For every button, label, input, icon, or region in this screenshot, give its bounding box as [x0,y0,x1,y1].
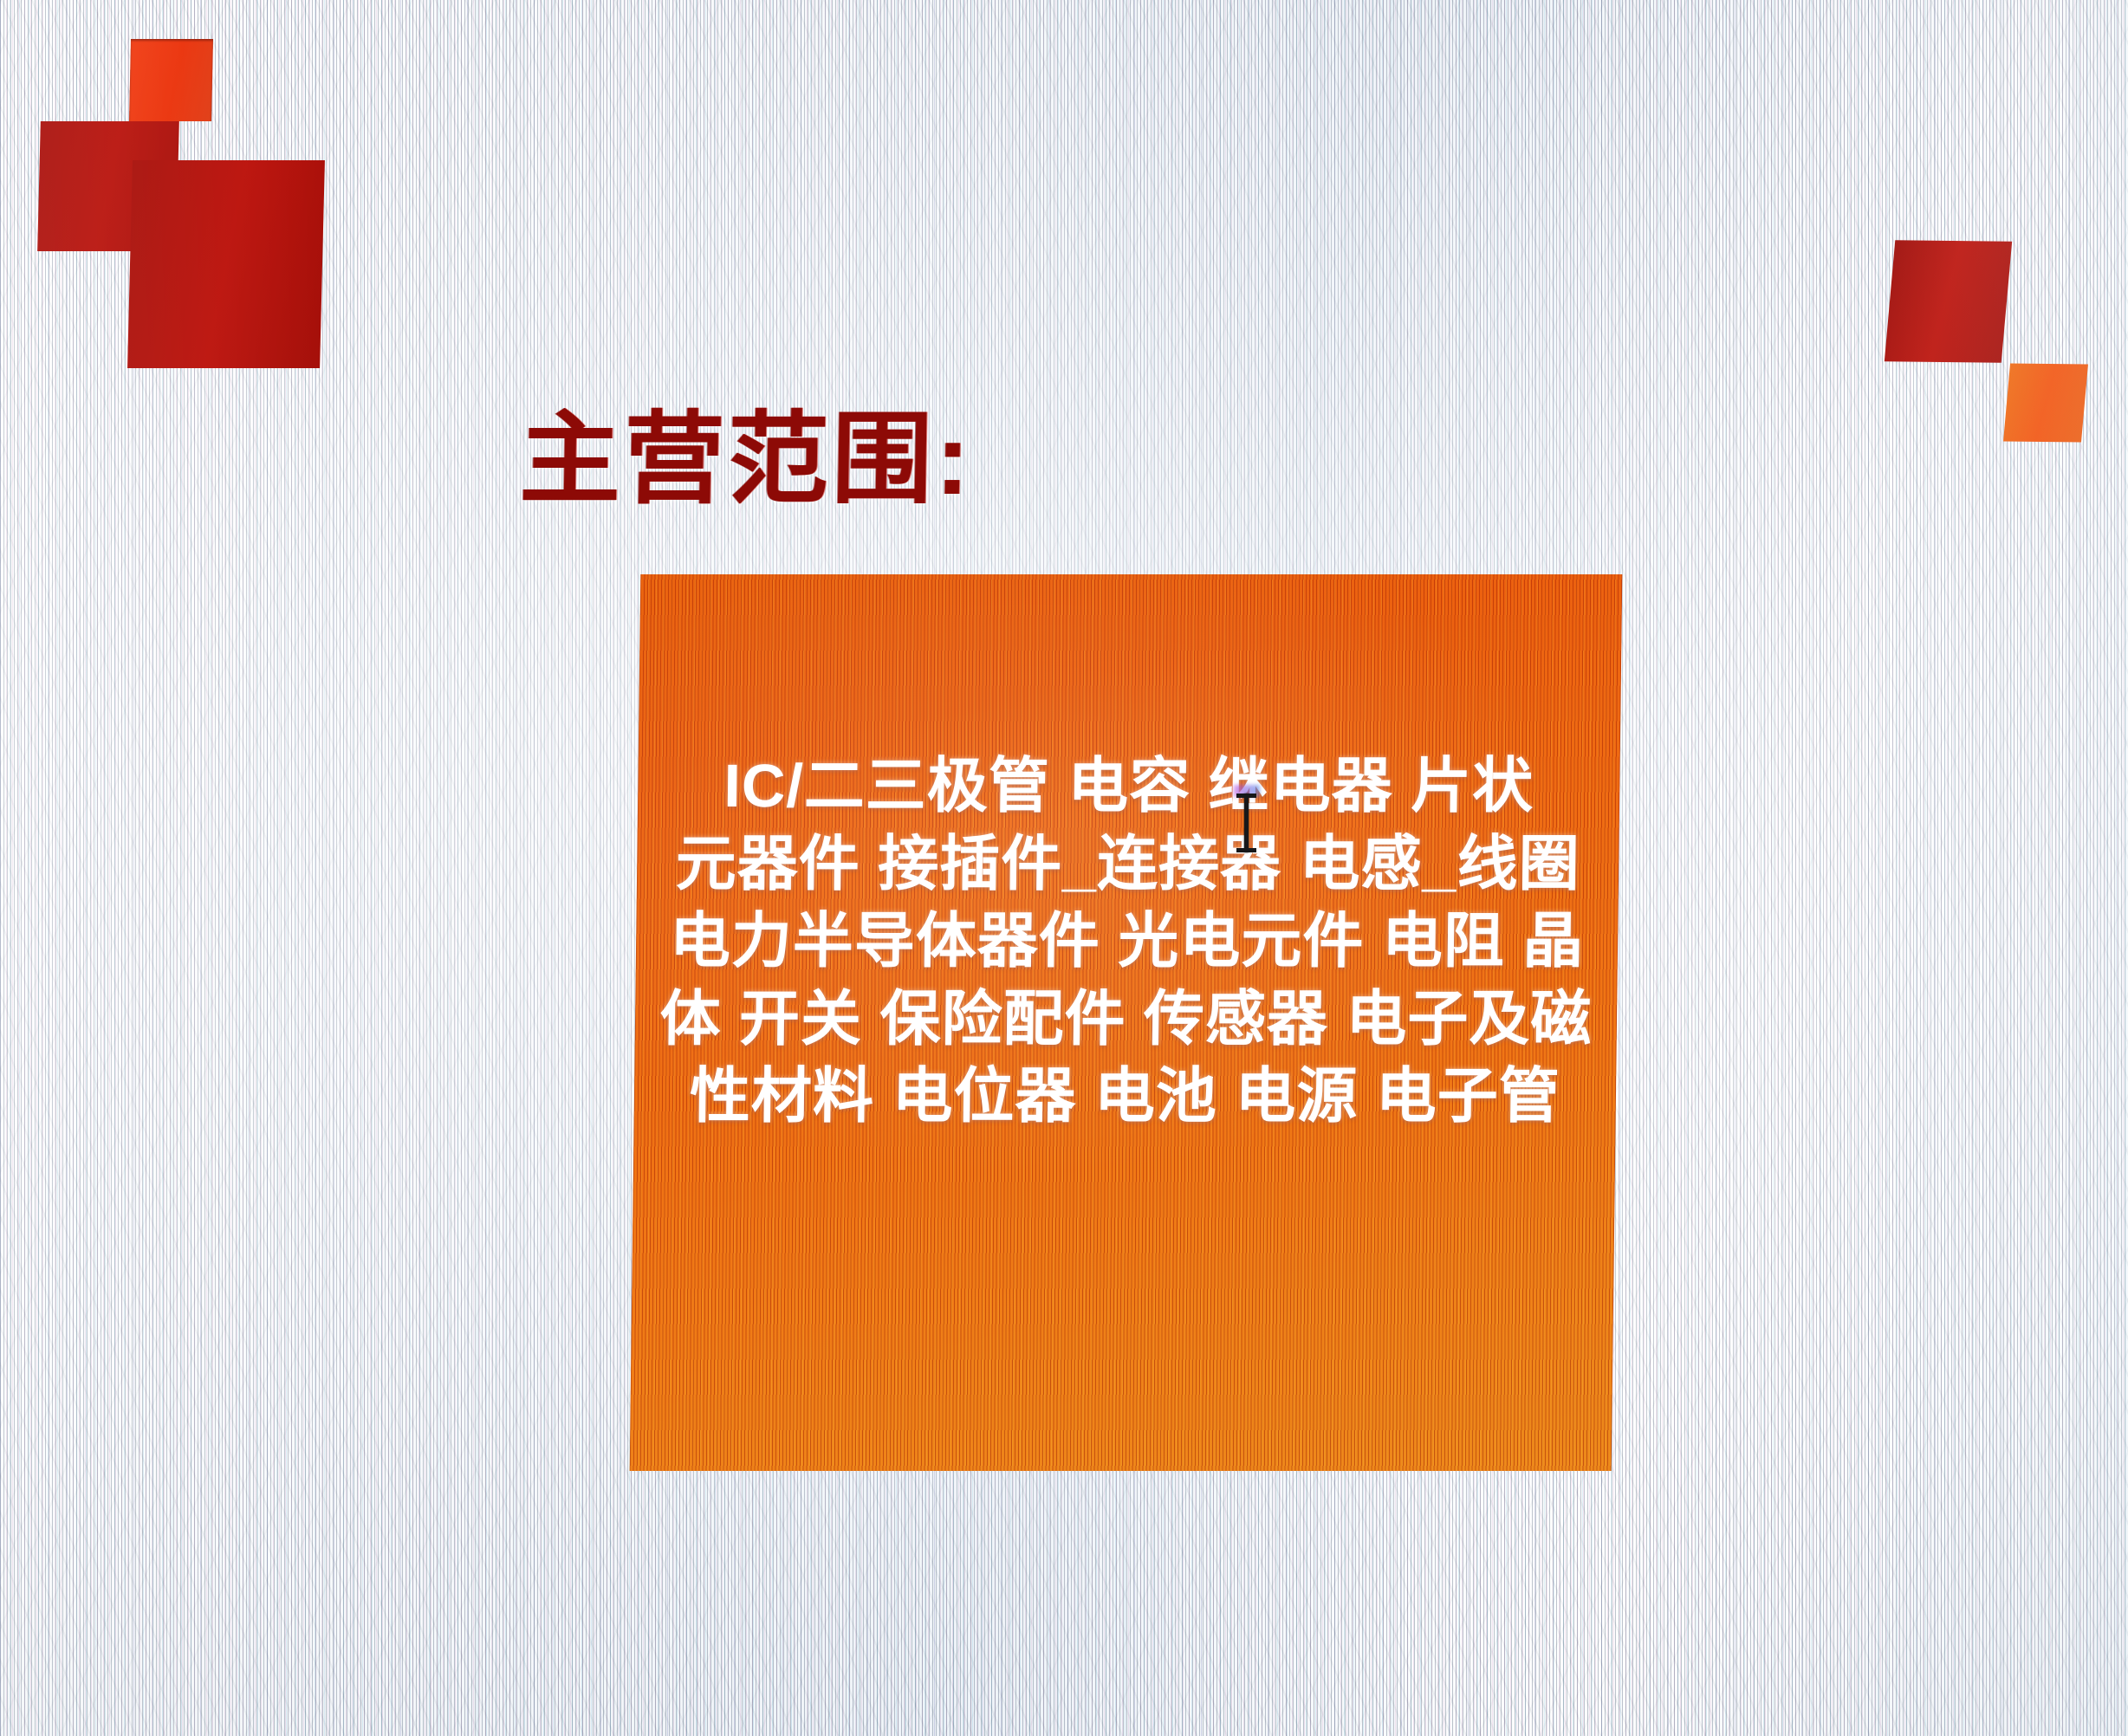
scope-content-panel: IC/二三极管 电容 继电器 片状 元器件 接插件_连接器 电感_线圈 电力半导… [630,574,1623,1471]
slide-screenshot: 主营范围: IC/二三极管 电容 继电器 片状 元器件 接插件_连接器 电感_线… [0,0,2128,1736]
scope-text-line: IC/二三极管 电容 继电器 片状 [650,748,1608,826]
decoration-orange-square-right [2003,364,2088,443]
scope-text-line: 电力半导体器件 光电元件 电阻 晶 [648,903,1606,981]
decoration-orange-square-top-left [129,39,213,121]
decoration-dark-red-block-main [127,160,325,368]
decoration-dark-red-square-right [1885,240,2012,362]
scope-text-block: IC/二三极管 电容 继电器 片状 元器件 接插件_连接器 电感_线圈 电力半导… [633,574,1622,1136]
text-caret-icon[interactable] [1244,794,1249,852]
scope-text-line: 元器件 接插件_连接器 电感_线圈 [649,826,1607,904]
scope-text-line: 性材料 电位器 电池 电源 电子管 [646,1058,1604,1136]
page-title: 主营范围: [519,404,974,516]
scope-text-line: 体 开关 保险配件 传感器 电子及磁 [647,981,1606,1059]
